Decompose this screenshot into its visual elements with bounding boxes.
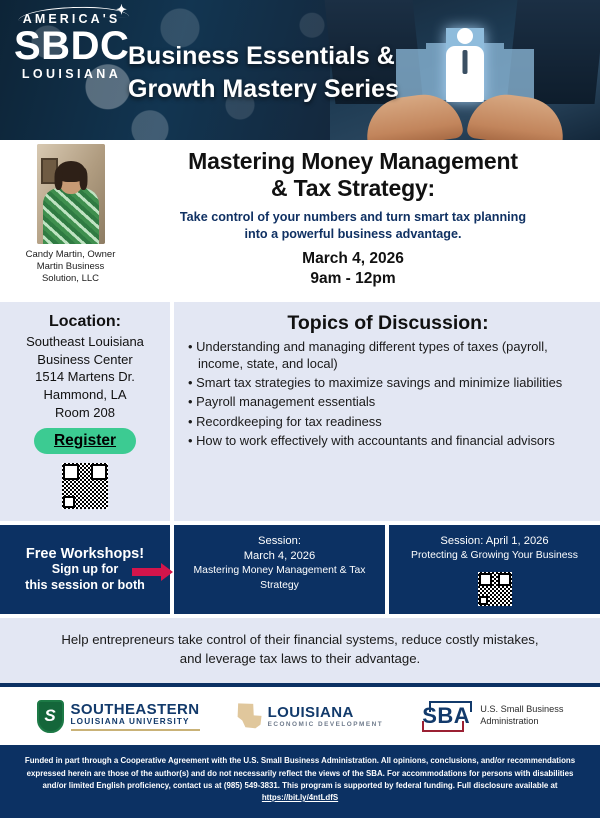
event-title-block: Candy Martin, Owner Martin Business Solu… [0, 140, 600, 296]
session-date: March 4, 2026 [184, 549, 375, 564]
session-label: Session: April 1, 2026 [399, 534, 590, 549]
shield-icon: S [37, 700, 64, 733]
sessions-row: Free Workshops! Sign up for this session… [0, 525, 600, 614]
tagline-line1: Help entrepreneurs take control of their… [34, 631, 566, 649]
banner-title-line1: Business Essentials & [128, 40, 448, 73]
event-subtitle: Take control of your numbers and turn sm… [120, 209, 600, 242]
sba-logo: SBA U.S. Small Business Administration [420, 701, 563, 732]
partner-logos: S SOUTHEASTERN LOUISIANA UNIVERSITY LOUI… [0, 683, 600, 745]
page-title-line2: & Tax Strategy: [120, 175, 586, 202]
louisiana-map-icon [237, 703, 263, 729]
disclosure-link[interactable]: https://bit.ly/4ntLdfS [262, 793, 338, 802]
location-line: Hammond, LA [8, 386, 162, 404]
presenter-name: Candy Martin, Owner [18, 249, 123, 261]
session-card-april: Session: April 1, 2026 Protecting & Grow… [389, 525, 600, 614]
header-banner: ✦ AMERICA'S SBDC LOUISIANA Business Esse… [0, 0, 600, 140]
disclaimer: Funded in part through a Cooperative Agr… [0, 745, 600, 818]
session-name: Protecting & Growing Your Business [399, 549, 590, 563]
arrow-right-icon [132, 568, 162, 576]
list-item: Payroll management essentials [188, 393, 588, 410]
page-title: Mastering Money Management & Tax Strateg… [120, 148, 600, 202]
event-subtitle-line1: Take control of your numbers and turn sm… [120, 209, 586, 225]
list-item: How to work effectively with accountants… [188, 432, 588, 449]
flyer-page: ✦ AMERICA'S SBDC LOUISIANA Business Esse… [0, 0, 600, 777]
location-line: 1514 Martens Dr. [8, 368, 162, 386]
sba-mark-icon: SBA [420, 701, 472, 732]
southeastern-logo: S SOUTHEASTERN LOUISIANA UNIVERSITY [37, 700, 200, 733]
banner-title: Business Essentials & Growth Mastery Ser… [128, 40, 448, 107]
cta-line3: this session or both [6, 578, 164, 594]
presenter-photo [37, 144, 105, 244]
star-icon: ✦ [116, 3, 130, 16]
sbdc-logo: ✦ AMERICA'S SBDC LOUISIANA [14, 12, 129, 81]
tagline: Help entrepreneurs take control of their… [0, 618, 600, 683]
session-card-march: Session: March 4, 2026 Mastering Money M… [174, 525, 385, 614]
louisiana-name: LOUISIANA [268, 705, 384, 722]
location-panel: Location: Southeast Louisiana Business C… [0, 302, 170, 521]
banner-title-line2: Growth Mastery Series [128, 73, 448, 106]
sbdc-logo-main: SBDC [14, 27, 129, 65]
list-item: Understanding and managing different typ… [188, 338, 588, 372]
location-line: Southeast Louisiana [8, 333, 162, 351]
list-item: Smart tax strategies to maximize savings… [188, 374, 588, 391]
sba-name-line2: Administration [480, 716, 563, 728]
sbdc-logo-top: ✦ AMERICA'S [14, 12, 129, 27]
location-line: Room 208 [8, 404, 162, 422]
location-line: Business Center [8, 351, 162, 369]
event-date: March 4, 2026 [120, 249, 586, 269]
list-item: Recordkeeping for tax readiness [188, 413, 588, 430]
topics-panel: Topics of Discussion: Understanding and … [174, 302, 600, 521]
leader-figure-icon [446, 28, 484, 102]
topics-heading: Topics of Discussion: [188, 312, 588, 335]
sbdc-logo-state: LOUISIANA [14, 67, 129, 81]
register-qr-code[interactable] [62, 463, 108, 509]
presenter-caption: Candy Martin, Owner Martin Business Solu… [18, 249, 123, 285]
sba-letters: SBA [420, 701, 472, 732]
southeastern-name: SOUTHEASTERN [71, 702, 200, 718]
disclaimer-text: Funded in part through a Cooperative Agr… [25, 756, 575, 790]
session-qr-code[interactable] [478, 572, 512, 606]
tagline-line2: and leverage tax laws to their advantage… [34, 650, 566, 668]
louisiana-sub: ECONOMIC DEVELOPMENT [268, 721, 384, 728]
location-heading: Location: [8, 313, 162, 331]
session-label: Session: [184, 534, 375, 549]
louisiana-ed-logo: LOUISIANA ECONOMIC DEVELOPMENT [237, 703, 384, 729]
session-name: Mastering Money Management & Tax Strateg… [184, 564, 375, 592]
event-subtitle-line2: into a powerful business advantage. [120, 226, 586, 242]
page-title-line1: Mastering Money Management [120, 148, 586, 175]
cta-headline: Free Workshops! [6, 546, 164, 562]
signup-cta: Free Workshops! Sign up for this session… [0, 525, 170, 614]
presenter-company-line1: Martin Business [18, 261, 123, 273]
presenter-block: Candy Martin, Owner Martin Business Solu… [18, 144, 123, 285]
event-time: 9am - 12pm [120, 269, 586, 289]
topics-list: Understanding and managing different typ… [188, 338, 588, 449]
register-button[interactable]: Register [34, 428, 136, 454]
info-panels: Location: Southeast Louisiana Business C… [0, 302, 600, 521]
southeastern-sub: LOUISIANA UNIVERSITY [71, 718, 200, 727]
sba-name-line1: U.S. Small Business [480, 704, 563, 716]
event-datetime: March 4, 2026 9am - 12pm [120, 249, 600, 290]
presenter-company-line2: Solution, LLC [18, 273, 123, 285]
divider [71, 729, 200, 731]
